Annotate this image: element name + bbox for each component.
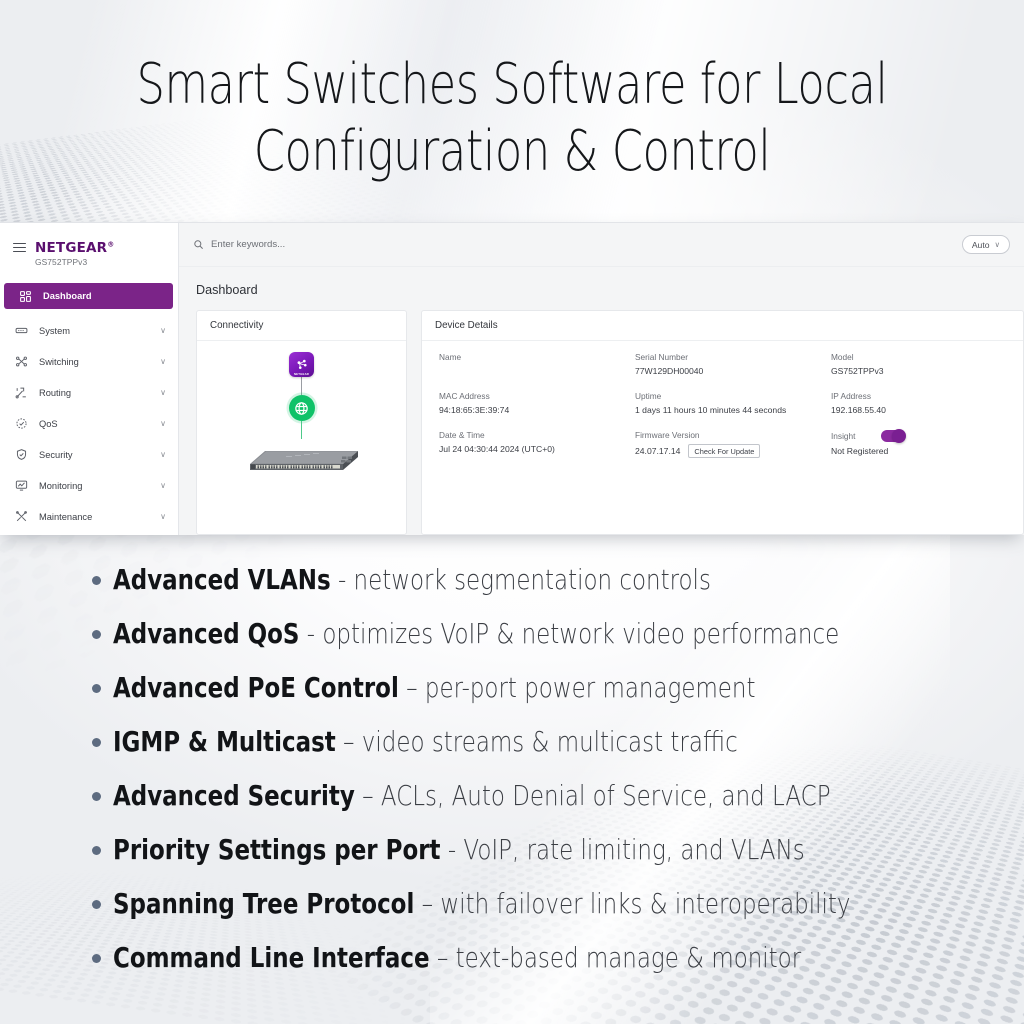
- field-serial-number: Serial Number 77W129DH00040: [635, 352, 827, 391]
- link-line-cloud-to-internet: [301, 377, 303, 395]
- chevron-down-icon: ∨: [995, 240, 1001, 249]
- sidebar-item-label: Maintenance: [39, 512, 150, 522]
- field-firmware-version: Firmware Version 24.07.17.14 Check For U…: [635, 430, 827, 469]
- firmware-row: 24.07.17.14 Check For Update: [635, 444, 827, 458]
- field-name: Name: [439, 352, 631, 391]
- bullet-text: Advanced PoE Control – per-port power ma…: [113, 674, 755, 702]
- field-label: Name: [439, 352, 631, 362]
- bullet-dot-icon: [92, 684, 101, 693]
- field-mac-address: MAC Address 94:18:65:3E:39:74: [439, 391, 631, 430]
- list-item: IGMP & Multicast – video streams & multi…: [92, 728, 1022, 782]
- top-bar: Auto ∨: [179, 223, 1024, 267]
- chevron-down-icon[interactable]: ∨: [160, 482, 166, 490]
- dashboard-cards: Connectivity NETGEAR: [179, 310, 1024, 535]
- bullet-dot-icon: [92, 900, 101, 909]
- sidebar-item-routing[interactable]: Routing ∨: [0, 380, 178, 405]
- sidebar-item-dashboard[interactable]: Dashboard: [4, 283, 173, 309]
- switching-icon: [14, 354, 29, 369]
- bullet-desc: - optimizes VoIP & network video perform…: [299, 617, 839, 650]
- field-date-time: Date & Time Jul 24 04:30:44 2024 (UTC+0): [439, 430, 631, 469]
- headline-line-2: Configuration & Control: [102, 119, 921, 186]
- toggle-knob: [892, 429, 907, 444]
- bullet-desc: - VoIP, rate limiting, and VLANs: [441, 833, 805, 866]
- bullet-title: Advanced VLANs: [113, 563, 331, 596]
- main-content: Auto ∨ Dashboard Connectivity: [179, 223, 1024, 535]
- dashboard-icon: [18, 289, 33, 304]
- sidebar-item-label: Routing: [39, 388, 150, 398]
- list-item: Priority Settings per Port - VoIP, rate …: [92, 836, 1022, 890]
- field-insight: Insight Not Registered: [831, 430, 1023, 469]
- bullet-title: Command Line Interface: [113, 941, 430, 974]
- shield-icon: [14, 447, 29, 462]
- insight-header: Insight: [831, 430, 1023, 442]
- bullet-dot-icon: [92, 846, 101, 855]
- brand-row: NETGEAR® GS752TPPv3: [0, 223, 178, 267]
- list-item: Advanced QoS - optimizes VoIP & network …: [92, 620, 1022, 674]
- sidebar-item-qos[interactable]: QoS ∨: [0, 411, 178, 436]
- bullet-desc: - network segmentation controls: [331, 563, 711, 596]
- maintenance-icon: [14, 509, 29, 524]
- sidebar-item-label: Switching: [39, 357, 150, 367]
- brand-logo-text: NETGEAR: [35, 240, 107, 256]
- sidebar-item-security[interactable]: Security ∨: [0, 442, 178, 467]
- bullet-dot-icon: [92, 792, 101, 801]
- bullet-text: Advanced QoS - optimizes VoIP & network …: [113, 620, 839, 648]
- brand-logo: NETGEAR®: [35, 240, 114, 256]
- hamburger-menu-icon[interactable]: [13, 243, 26, 252]
- bullet-text: Advanced VLANs - network segmentation co…: [113, 566, 711, 594]
- bullet-title: Advanced QoS: [113, 617, 299, 650]
- field-value: 77W129DH00040: [635, 366, 827, 376]
- bullet-title: Priority Settings per Port: [113, 833, 441, 866]
- chevron-down-icon[interactable]: ∨: [160, 420, 166, 428]
- device-model-label: GS752TPPv3: [35, 257, 114, 267]
- search-input[interactable]: [211, 239, 431, 250]
- bullet-text: Spanning Tree Protocol – with failover l…: [113, 890, 850, 918]
- chevron-down-icon[interactable]: ∨: [160, 358, 166, 366]
- page-title: Dashboard: [179, 267, 1024, 310]
- field-value: 24.07.17.14: [635, 446, 680, 456]
- feature-bullet-list: Advanced VLANs - network segmentation co…: [92, 566, 1022, 998]
- field-model: Model GS752TPPv3: [831, 352, 1023, 391]
- field-value: 192.168.55.40: [831, 405, 1023, 415]
- link-line-internet-to-switch: [301, 421, 303, 439]
- brand-trademark-icon: ®: [107, 241, 114, 249]
- bullet-desc: – ACLs, Auto Denial of Service, and LACP: [355, 779, 831, 812]
- list-item: Advanced PoE Control – per-port power ma…: [92, 674, 1022, 728]
- cloud-icon-label: NETGEAR: [289, 372, 314, 376]
- connectivity-card: Connectivity NETGEAR: [196, 310, 407, 535]
- bullet-text: Priority Settings per Port - VoIP, rate …: [113, 836, 805, 864]
- page-headline: Smart Switches Software for Local Config…: [102, 52, 921, 185]
- bullet-dot-icon: [92, 954, 101, 963]
- device-details-card: Device Details Name Serial Number 77W129…: [421, 310, 1024, 535]
- bullet-title: Advanced PoE Control: [113, 671, 399, 704]
- chevron-down-icon[interactable]: ∨: [160, 389, 166, 397]
- search-bar[interactable]: [193, 239, 962, 250]
- qos-icon: [14, 416, 29, 431]
- field-value: GS752TPPv3: [831, 366, 1023, 376]
- monitoring-icon: [14, 478, 29, 493]
- auto-dropdown-label: Auto: [972, 240, 990, 250]
- field-label: MAC Address: [439, 391, 631, 401]
- sidebar-item-system[interactable]: System ∨: [0, 318, 178, 343]
- bullet-text: Command Line Interface – text-based mana…: [113, 944, 801, 972]
- auto-refresh-dropdown[interactable]: Auto ∨: [962, 235, 1010, 254]
- brand-text: NETGEAR® GS752TPPv3: [35, 240, 114, 267]
- check-for-update-button[interactable]: Check For Update: [688, 444, 760, 458]
- sidebar-nav: Dashboard System ∨ Switching ∨ Routing ∨…: [0, 283, 178, 529]
- sidebar-item-maintenance[interactable]: Maintenance ∨: [0, 504, 178, 529]
- chevron-down-icon[interactable]: ∨: [160, 451, 166, 459]
- sidebar-item-label: System: [39, 326, 150, 336]
- field-label: Model: [831, 352, 1023, 362]
- bullet-title: IGMP & Multicast: [113, 725, 336, 758]
- headline-line-1: Smart Switches Software for Local: [102, 52, 921, 119]
- list-item: Advanced Security – ACLs, Auto Denial of…: [92, 782, 1022, 836]
- list-item: Command Line Interface – text-based mana…: [92, 944, 1022, 998]
- device-details-card-title: Device Details: [422, 311, 1023, 341]
- bullet-title: Spanning Tree Protocol: [113, 887, 414, 920]
- field-value: 94:18:65:3E:39:74: [439, 405, 631, 415]
- field-uptime: Uptime 1 days 11 hours 10 minutes 44 sec…: [635, 391, 827, 430]
- list-item: Advanced VLANs - network segmentation co…: [92, 566, 1022, 620]
- field-value: Not Registered: [831, 446, 1023, 456]
- sidebar-item-monitoring[interactable]: Monitoring ∨: [0, 473, 178, 498]
- field-label: Date & Time: [439, 430, 631, 440]
- field-label: Insight: [831, 431, 855, 441]
- bullet-desc: – text-based manage & monitor: [430, 941, 802, 974]
- connectivity-card-title: Connectivity: [197, 311, 406, 341]
- system-icon: [14, 323, 29, 338]
- device-details-grid: Name Serial Number 77W129DH00040 Model G…: [422, 341, 1023, 534]
- field-value: 1 days 11 hours 10 minutes 44 seconds: [635, 405, 827, 415]
- sidebar-item-label: Security: [39, 450, 150, 460]
- routing-icon: [14, 385, 29, 400]
- sidebar-item-label: QoS: [39, 419, 150, 429]
- sidebar-item-label: Monitoring: [39, 481, 150, 491]
- sidebar-item-switching[interactable]: Switching ∨: [0, 349, 178, 374]
- bullet-title: Advanced Security: [113, 779, 355, 812]
- switch-ui-screenshot: NETGEAR® GS752TPPv3 Dashboard System ∨ S…: [0, 222, 1024, 535]
- field-label: Firmware Version: [635, 430, 827, 440]
- bullet-dot-icon: [92, 630, 101, 639]
- field-label: Uptime: [635, 391, 827, 401]
- connectivity-diagram: NETGEAR: [197, 341, 406, 534]
- bullet-dot-icon: [92, 738, 101, 747]
- bullet-desc: – with failover links & interoperability: [414, 887, 850, 920]
- bullet-dot-icon: [92, 576, 101, 585]
- field-value: Jul 24 04:30:44 2024 (UTC+0): [439, 444, 631, 454]
- globe-icon[interactable]: [289, 395, 315, 421]
- field-ip-address: IP Address 192.168.55.40: [831, 391, 1023, 430]
- bullet-text: Advanced Security – ACLs, Auto Denial of…: [113, 782, 831, 810]
- bullet-desc: – video streams & multicast traffic: [336, 725, 738, 758]
- sidebar-item-label: Dashboard: [43, 291, 161, 301]
- search-icon: [193, 239, 204, 250]
- bullet-text: IGMP & Multicast – video streams & multi…: [113, 728, 738, 756]
- field-label: Serial Number: [635, 352, 827, 362]
- netgear-cloud-icon[interactable]: NETGEAR: [289, 352, 314, 377]
- insight-toggle[interactable]: [881, 430, 905, 442]
- chevron-down-icon[interactable]: ∨: [160, 513, 166, 521]
- list-item: Spanning Tree Protocol – with failover l…: [92, 890, 1022, 944]
- bullet-desc: – per-port power management: [399, 671, 756, 704]
- chevron-down-icon[interactable]: ∨: [160, 327, 166, 335]
- sidebar: NETGEAR® GS752TPPv3 Dashboard System ∨ S…: [0, 223, 179, 535]
- field-label: IP Address: [831, 391, 1023, 401]
- switch-device-image: [243, 441, 361, 475]
